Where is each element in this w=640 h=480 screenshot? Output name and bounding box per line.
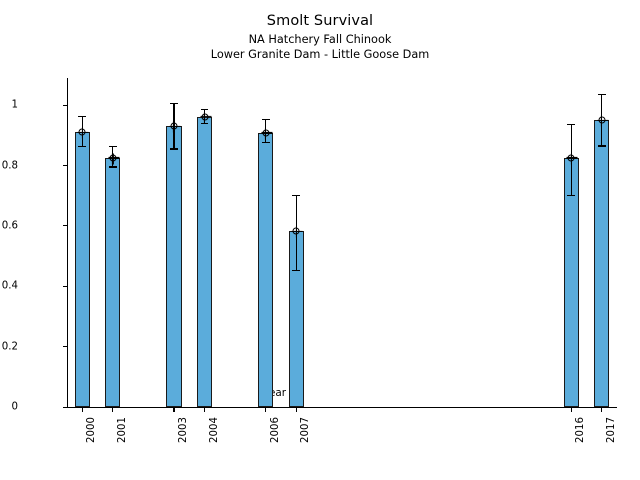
- x-tick: [82, 407, 83, 412]
- y-tick-label: 0.6: [2, 220, 18, 231]
- error-bar-cap-lower: [262, 142, 270, 143]
- bar[interactable]: [258, 133, 273, 407]
- bar[interactable]: [594, 120, 609, 407]
- bar[interactable]: [75, 132, 90, 407]
- error-bar-cap-lower: [109, 166, 117, 167]
- error-bar-cap-upper: [78, 116, 86, 117]
- y-tick: [63, 407, 68, 408]
- y-tick: [63, 286, 68, 287]
- y-axis-spine: [67, 78, 68, 407]
- x-tick: [571, 407, 572, 412]
- bar[interactable]: [166, 126, 181, 407]
- error-bar-cap-upper: [292, 195, 300, 196]
- plot-area: 20002001200320042006200720162017: [67, 78, 617, 407]
- x-tick: [265, 407, 266, 412]
- error-bar-cap-lower: [170, 148, 178, 149]
- y-tick: [63, 105, 68, 106]
- chart-subtitle-1: NA Hatchery Fall Chinook: [0, 34, 640, 45]
- chart-title: Smolt Survival: [0, 14, 640, 29]
- x-tick: [296, 407, 297, 412]
- data-point-marker: [109, 154, 116, 161]
- data-point-marker: [293, 228, 300, 235]
- data-point-marker: [201, 113, 208, 120]
- chart-title-block: Smolt Survival NA Hatchery Fall Chinook …: [0, 14, 640, 60]
- y-tick-label: 0: [12, 402, 18, 413]
- data-point-marker: [262, 129, 269, 136]
- y-tick-label: 0.8: [2, 160, 18, 171]
- error-bar-cap-lower: [567, 195, 575, 196]
- bar[interactable]: [197, 117, 212, 407]
- x-tick-label: 2006: [270, 417, 281, 443]
- x-tick-label: 2001: [117, 417, 128, 443]
- data-point-marker: [598, 117, 605, 124]
- x-tick-label: 2003: [178, 417, 189, 443]
- error-bar-cap-lower: [201, 123, 209, 124]
- x-tick-label: 2017: [606, 417, 617, 443]
- error-bar-cap-upper: [567, 124, 575, 125]
- x-tick-label: 2016: [575, 417, 586, 443]
- error-bar-cap-lower: [78, 146, 86, 147]
- y-tick: [63, 346, 68, 347]
- y-tick-label: 0.4: [2, 281, 18, 292]
- x-tick: [601, 407, 602, 412]
- x-tick: [204, 407, 205, 412]
- y-tick-label: 0.2: [2, 341, 18, 352]
- error-bar-cap-lower: [598, 145, 606, 146]
- x-tick-label: 2000: [86, 417, 97, 443]
- y-tick: [63, 165, 68, 166]
- y-tick: [63, 225, 68, 226]
- x-tick-label: 2004: [209, 417, 220, 443]
- data-point-marker: [79, 129, 86, 136]
- x-tick: [112, 407, 113, 412]
- error-bar-cap-upper: [598, 94, 606, 95]
- x-tick-label: 2007: [300, 417, 311, 443]
- x-axis-spine: [67, 407, 617, 408]
- bar[interactable]: [105, 158, 120, 407]
- chart-subtitle-2: Lower Granite Dam - Little Goose Dam: [0, 49, 640, 60]
- x-tick: [173, 407, 174, 412]
- data-point-marker: [568, 154, 575, 161]
- chart-figure: Smolt Survival NA Hatchery Fall Chinook …: [0, 0, 640, 480]
- error-bar-cap-upper: [109, 146, 117, 147]
- error-bar-cap-upper: [262, 119, 270, 120]
- data-point-marker: [170, 123, 177, 130]
- y-tick-label: 1: [12, 100, 18, 111]
- error-bar-cap-upper: [201, 109, 209, 110]
- error-bar-cap-upper: [170, 103, 178, 104]
- error-bar-cap-lower: [292, 270, 300, 271]
